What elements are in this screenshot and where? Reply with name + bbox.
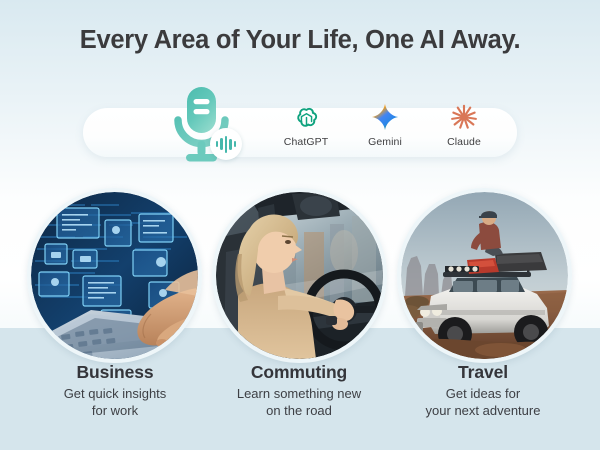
- card-caption-travel: Travel Get ideas for your next adventure: [388, 362, 578, 419]
- microphone-icon: [172, 84, 244, 170]
- card-title-business: Business: [20, 362, 210, 383]
- card-subtitle-travel: Get ideas for your next adventure: [388, 386, 578, 419]
- card-image-business: [27, 188, 202, 363]
- woman-driving-car-photo: [216, 192, 383, 359]
- chatgpt-logo-icon: [270, 100, 342, 134]
- card-subtitle-line1: Get quick insights: [20, 386, 210, 403]
- claude-logo-icon: [428, 100, 500, 134]
- card-subtitle-line2: on the road: [204, 403, 394, 420]
- gemini-logo-icon: [349, 100, 421, 134]
- page-title: Every Area of Your Life, One AI Away.: [0, 26, 600, 55]
- assistant-claude[interactable]: Claude: [428, 100, 500, 148]
- wave-bar: [220, 138, 223, 150]
- card-title-travel: Travel: [388, 362, 578, 383]
- assistant-label-gemini: Gemini: [349, 136, 421, 148]
- card-subtitle-line2: your next adventure: [388, 403, 578, 420]
- sound-wave-icon: [210, 128, 242, 160]
- card-subtitle-business: Get quick insights for work: [20, 386, 210, 419]
- suv-desert-adventure-photo: [401, 192, 568, 359]
- card-image-travel: [397, 188, 572, 363]
- promo-banner: Every Area of Your Life, One AI Away.: [0, 0, 600, 450]
- assistant-gemini[interactable]: Gemini: [349, 100, 421, 148]
- wave-bar: [234, 141, 237, 147]
- assistant-logo-list: ChatGPT Gemini: [270, 100, 500, 170]
- card-subtitle-commuting: Learn something new on the road: [204, 386, 394, 419]
- card-subtitle-line2: for work: [20, 403, 210, 420]
- assistant-chatgpt[interactable]: ChatGPT: [270, 100, 342, 148]
- laptop-typing-hands-photo: [31, 192, 198, 359]
- wave-bar: [216, 141, 219, 147]
- wave-bar: [225, 136, 228, 153]
- assistant-label-chatgpt: ChatGPT: [270, 136, 342, 148]
- card-title-commuting: Commuting: [204, 362, 394, 383]
- card-subtitle-line1: Get ideas for: [388, 386, 578, 403]
- card-caption-commuting: Commuting Learn something new on the roa…: [204, 362, 394, 419]
- wave-bar: [229, 139, 232, 150]
- card-subtitle-line1: Learn something new: [204, 386, 394, 403]
- assistant-label-claude: Claude: [428, 136, 500, 148]
- card-image-commuting: [212, 188, 387, 363]
- card-caption-business: Business Get quick insights for work: [20, 362, 210, 419]
